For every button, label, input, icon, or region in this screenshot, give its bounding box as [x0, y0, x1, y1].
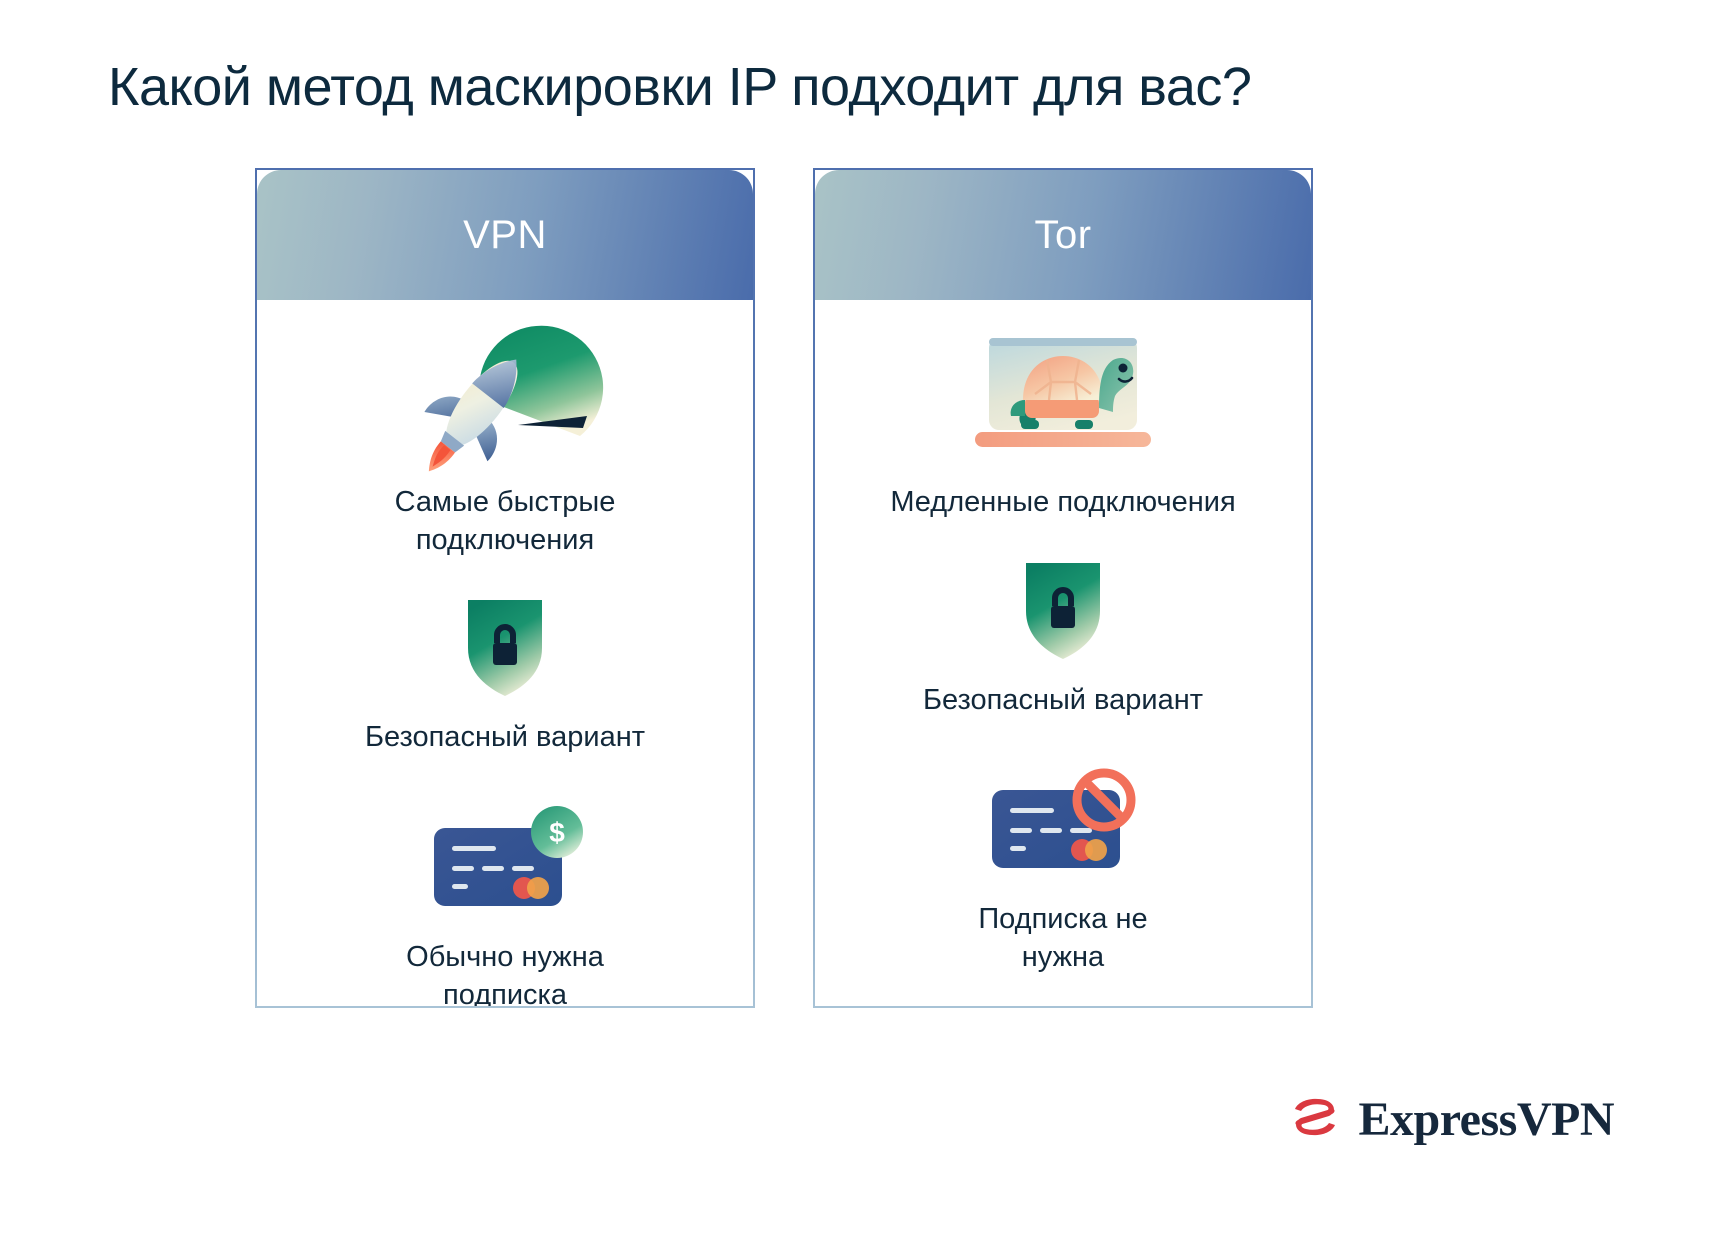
page-title: Какой метод маскировки IP подходит для в…: [108, 56, 1251, 118]
brand-logo: ExpressVPN: [1285, 1087, 1614, 1152]
card-title-vpn: VPN: [463, 213, 547, 258]
svg-text:$: $: [549, 817, 565, 848]
feature-label-speed-vpn: Самые быстрые подключения: [395, 484, 616, 559]
feature-secure-tor: Безопасный вариант: [815, 548, 1311, 720]
credit-card-prohibited-icon: [978, 765, 1148, 885]
feature-label-subscription-vpn: Обычно нужна подписка: [406, 939, 604, 1008]
card-body-vpn: Самые быстрые подключения: [257, 300, 753, 1008]
card-title-tor: Tor: [1034, 213, 1091, 258]
shield-lock-icon: [450, 585, 560, 705]
card-header-tor: Tor: [815, 170, 1311, 300]
comparison-card-tor: Tor: [813, 168, 1313, 1008]
feature-speed-tor: Медленные подключения: [815, 324, 1311, 522]
rocket-speedometer-icon: [405, 324, 605, 474]
feature-subscription-vpn: $ Обычно нужна подписка: [257, 803, 753, 1008]
laptop-turtle-icon: [963, 324, 1163, 474]
feature-label-speed-tor: Медленные подключения: [890, 484, 1235, 522]
credit-card-dollar-icon: $: [420, 803, 590, 923]
feature-secure-vpn: Безопасный вариант: [257, 585, 753, 757]
card-body-tor: Медленные подключения: [815, 300, 1311, 1006]
feature-label-subscription-tor: Подписка не нужна: [978, 901, 1147, 976]
feature-label-secure-tor: Безопасный вариант: [923, 682, 1203, 720]
brand-wordmark: ExpressVPN: [1359, 1092, 1614, 1147]
feature-subscription-tor: Подписка не нужна: [815, 765, 1311, 976]
comparison-cards-row: VPN: [255, 168, 1313, 1008]
feature-label-secure-vpn: Безопасный вариант: [365, 719, 645, 757]
shield-lock-icon: [1008, 548, 1118, 668]
expressvpn-logo-mark: [1285, 1087, 1345, 1152]
feature-speed-vpn: Самые быстрые подключения: [257, 324, 753, 559]
card-header-vpn: VPN: [257, 170, 753, 300]
comparison-card-vpn: VPN: [255, 168, 755, 1008]
